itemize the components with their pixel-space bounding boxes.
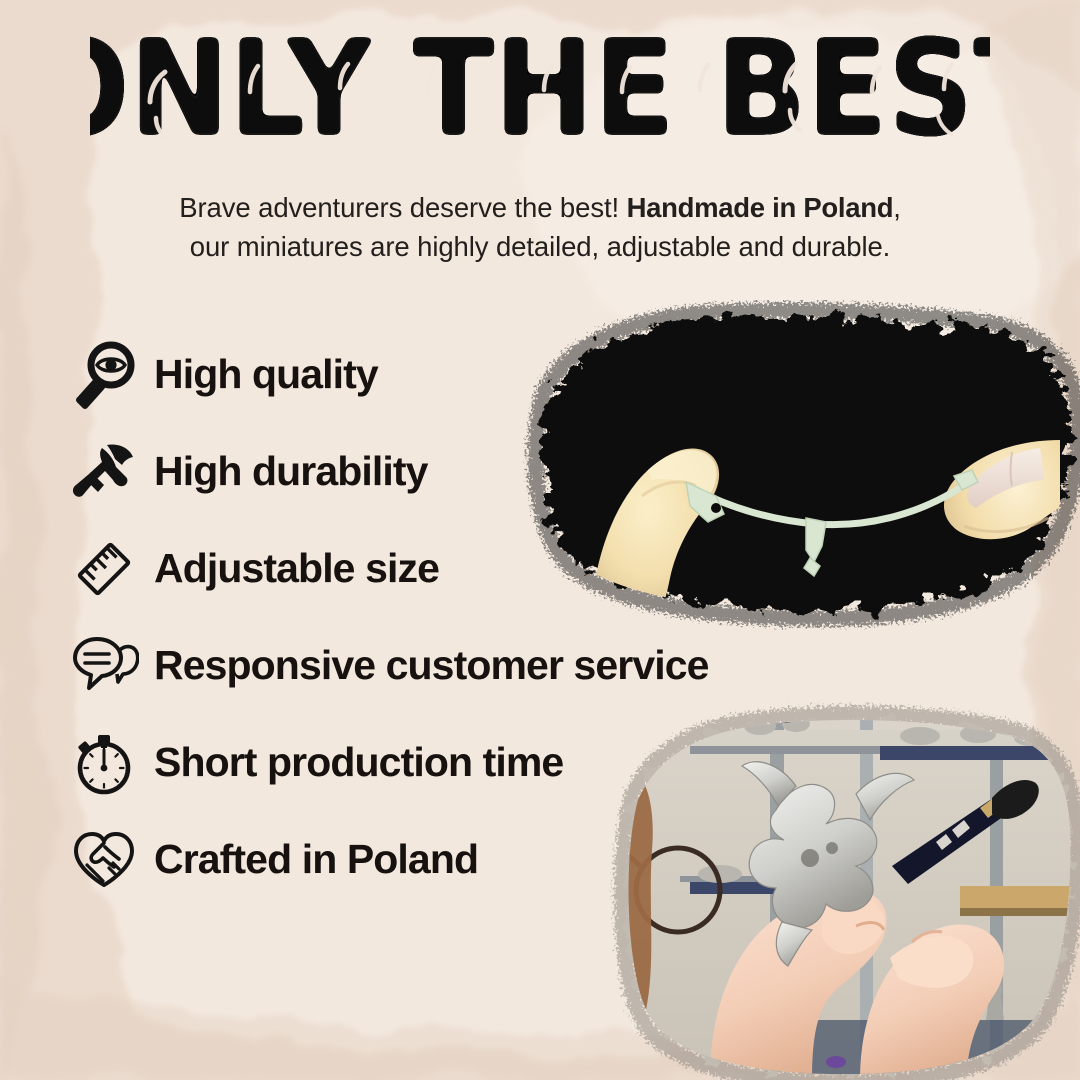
feature-label: High durability xyxy=(154,448,428,495)
feature-row-crafted-in-poland: Crafted in Poland xyxy=(62,811,709,908)
magnifier-eye-icon xyxy=(62,333,146,417)
subtitle-text-plain: Brave adventurers deserve the best! xyxy=(179,192,626,223)
feature-label: Short production time xyxy=(154,739,563,786)
subtitle: Brave adventurers deserve the best! Hand… xyxy=(0,188,1080,266)
feature-label: Responsive customer service xyxy=(154,642,709,689)
svg-text:ONLY THE BEST: ONLY THE BEST xyxy=(90,34,990,164)
title-artwork: ONLY THE BEST xyxy=(90,34,990,164)
feature-list: High quality High durability xyxy=(62,326,709,908)
feature-label: High quality xyxy=(154,351,378,398)
page-title: ONLY THE BEST xyxy=(0,34,1080,164)
feature-row-adjustable-size: Adjustable size xyxy=(62,520,709,617)
feature-label: Crafted in Poland xyxy=(154,836,478,883)
feature-row-high-durability: High durability xyxy=(62,423,709,520)
hammer-icon xyxy=(62,430,146,514)
feature-row-short-production-time: Short production time xyxy=(62,714,709,811)
feature-row-high-quality: High quality xyxy=(62,326,709,423)
subtitle-text-bold: Handmade in Poland xyxy=(627,192,894,223)
feature-label: Adjustable size xyxy=(154,545,439,592)
subtitle-line-1: Brave adventurers deserve the best! Hand… xyxy=(0,188,1080,227)
stopwatch-icon xyxy=(62,721,146,805)
feature-row-responsive-customer-service: Responsive customer service xyxy=(62,617,709,714)
subtitle-text-tail: , xyxy=(893,192,901,223)
heart-handshake-icon xyxy=(62,818,146,902)
ruler-icon xyxy=(62,527,146,611)
subtitle-line-2: our miniatures are highly detailed, adju… xyxy=(0,227,1080,266)
speech-bubbles-icon xyxy=(62,624,146,708)
